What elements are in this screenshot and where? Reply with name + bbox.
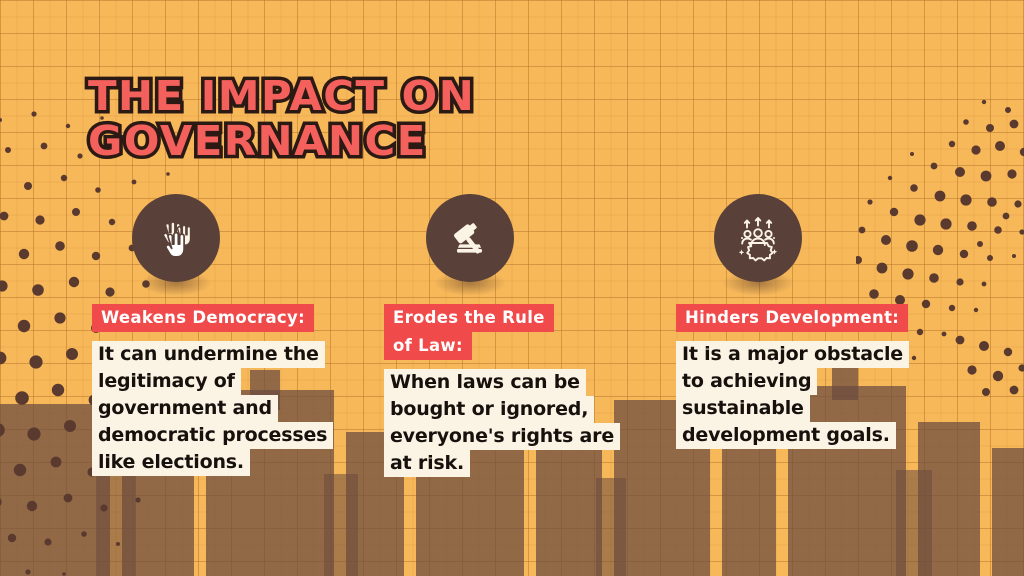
column-heading-line: Hinders Development: [676, 304, 908, 332]
column-heading: Erodes the Rule of Law: [384, 304, 646, 360]
body-line: democratic processes [92, 422, 333, 449]
body-line: sustainable [676, 395, 810, 422]
body-line: to achieving [676, 368, 817, 395]
body-line: When laws can be [384, 369, 586, 396]
body-line: It is a major obstacle [676, 341, 909, 368]
gavel-icon [426, 194, 514, 282]
icon-badge-wrap [92, 194, 360, 294]
column-body: It can undermine the legitimacy of gover… [92, 341, 360, 476]
column-heading-line: of Law: [384, 332, 472, 360]
body-line: legitimacy of [92, 368, 241, 395]
icon-badge-wrap [384, 194, 646, 294]
page-title: THE IMPACT ON GOVERNANCE [88, 74, 468, 164]
slide-canvas: THE IMPACT ON GOVERNANCE Wea [0, 0, 1024, 576]
body-line: at risk. [384, 450, 470, 477]
column-heading: Weakens Democracy: [92, 304, 360, 332]
body-line: government and [92, 395, 278, 422]
body-line: development goals. [676, 422, 896, 449]
icon-badge-wrap [676, 194, 942, 294]
column-hinders-development: Hinders Development: It is a major obsta… [676, 194, 942, 449]
body-line: bought or ignored, [384, 396, 594, 423]
page-title-line-1: THE IMPACT ON [88, 74, 475, 119]
column-weakens-democracy: Weakens Democracy: It can undermine the … [92, 194, 360, 476]
column-body: When laws can be bought or ignored, ever… [384, 369, 646, 477]
column-heading: Hinders Development: [676, 304, 942, 332]
column-erodes-rule-of-law: Erodes the Rule of Law: When laws can be… [384, 194, 646, 477]
raised-hands-icon [132, 194, 220, 282]
column-heading-line: Erodes the Rule [384, 304, 554, 332]
column-heading-line: Weakens Democracy: [92, 304, 314, 332]
body-line: everyone's rights are [384, 423, 620, 450]
column-body: It is a major obstacle to achieving sust… [676, 341, 942, 449]
page-title-line-2: GOVERNANCE [88, 119, 475, 164]
body-line: It can undermine the [92, 341, 325, 368]
body-line: like elections. [92, 449, 250, 476]
people-growth-gear-icon [714, 194, 802, 282]
